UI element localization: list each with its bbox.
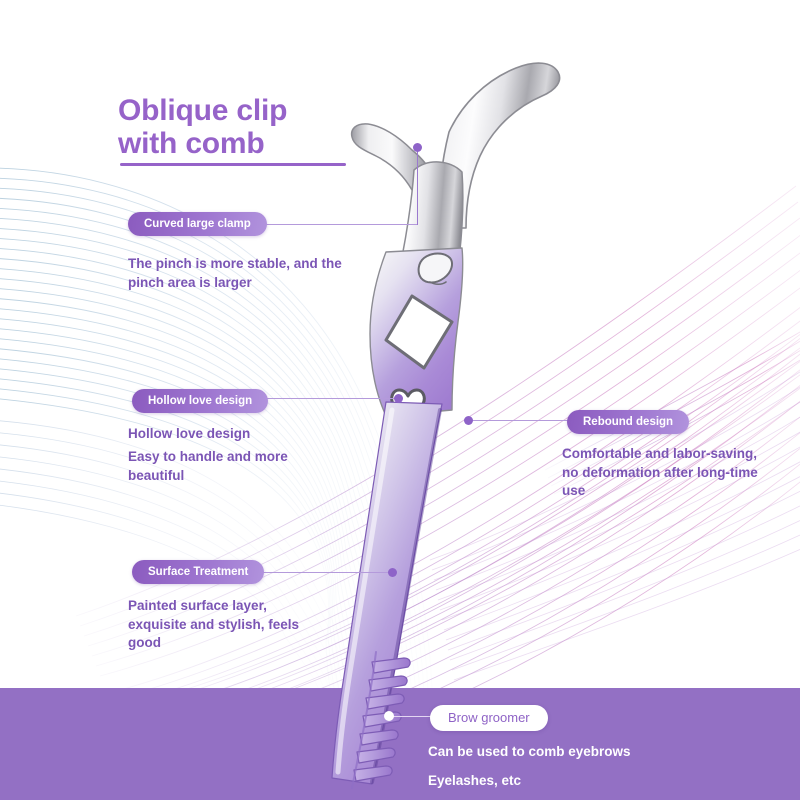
description-brow-groomer-2: Eyelashes, etc — [428, 771, 728, 790]
badge-hollow-love-design[interactable]: Hollow love design — [132, 389, 268, 413]
connector-hollow-love-design — [248, 398, 400, 399]
description-hollow-love-design: Hollow love design — [128, 425, 358, 444]
page-title-line-2: with comb — [118, 127, 287, 160]
description-curved-large-clamp: The pinch is more stable, and the pinch … — [128, 255, 368, 292]
connector-curved-large-clamp-horizontal — [258, 224, 418, 225]
description-hollow-love-design-2: Easy to handle and more beautiful — [128, 448, 358, 485]
connector-rebound-design — [470, 420, 570, 421]
connector-surface-treatment — [252, 572, 394, 573]
badge-surface-treatment[interactable]: Surface Treatment — [132, 560, 264, 584]
description-surface-treatment: Painted surface layer, exquisite and sty… — [128, 597, 368, 653]
badge-rebound-design[interactable]: Rebound design — [567, 410, 689, 434]
hotspot-dot-brow-groomer — [384, 711, 394, 721]
connector-curved-large-clamp-vertical — [417, 150, 418, 225]
hotspot-dot-curved-large-clamp — [413, 143, 422, 152]
hotspot-dot-hollow-love-design — [394, 394, 403, 403]
hotspot-dot-rebound-design — [464, 416, 473, 425]
badge-curved-large-clamp[interactable]: Curved large clamp — [128, 212, 267, 236]
page-title-line-1: Oblique clip — [118, 94, 287, 127]
infographic-canvas: Oblique clip with comb Curved large clam… — [0, 0, 800, 800]
page-title: Oblique clip with comb — [118, 94, 287, 160]
description-brow-groomer: Can be used to comb eyebrows — [428, 742, 728, 761]
hotspot-dot-surface-treatment — [388, 568, 397, 577]
description-rebound-design: Comfortable and labor-saving, no deforma… — [562, 445, 800, 501]
title-underline-rule — [120, 163, 346, 166]
badge-brow-groomer[interactable]: Brow groomer — [430, 705, 548, 731]
